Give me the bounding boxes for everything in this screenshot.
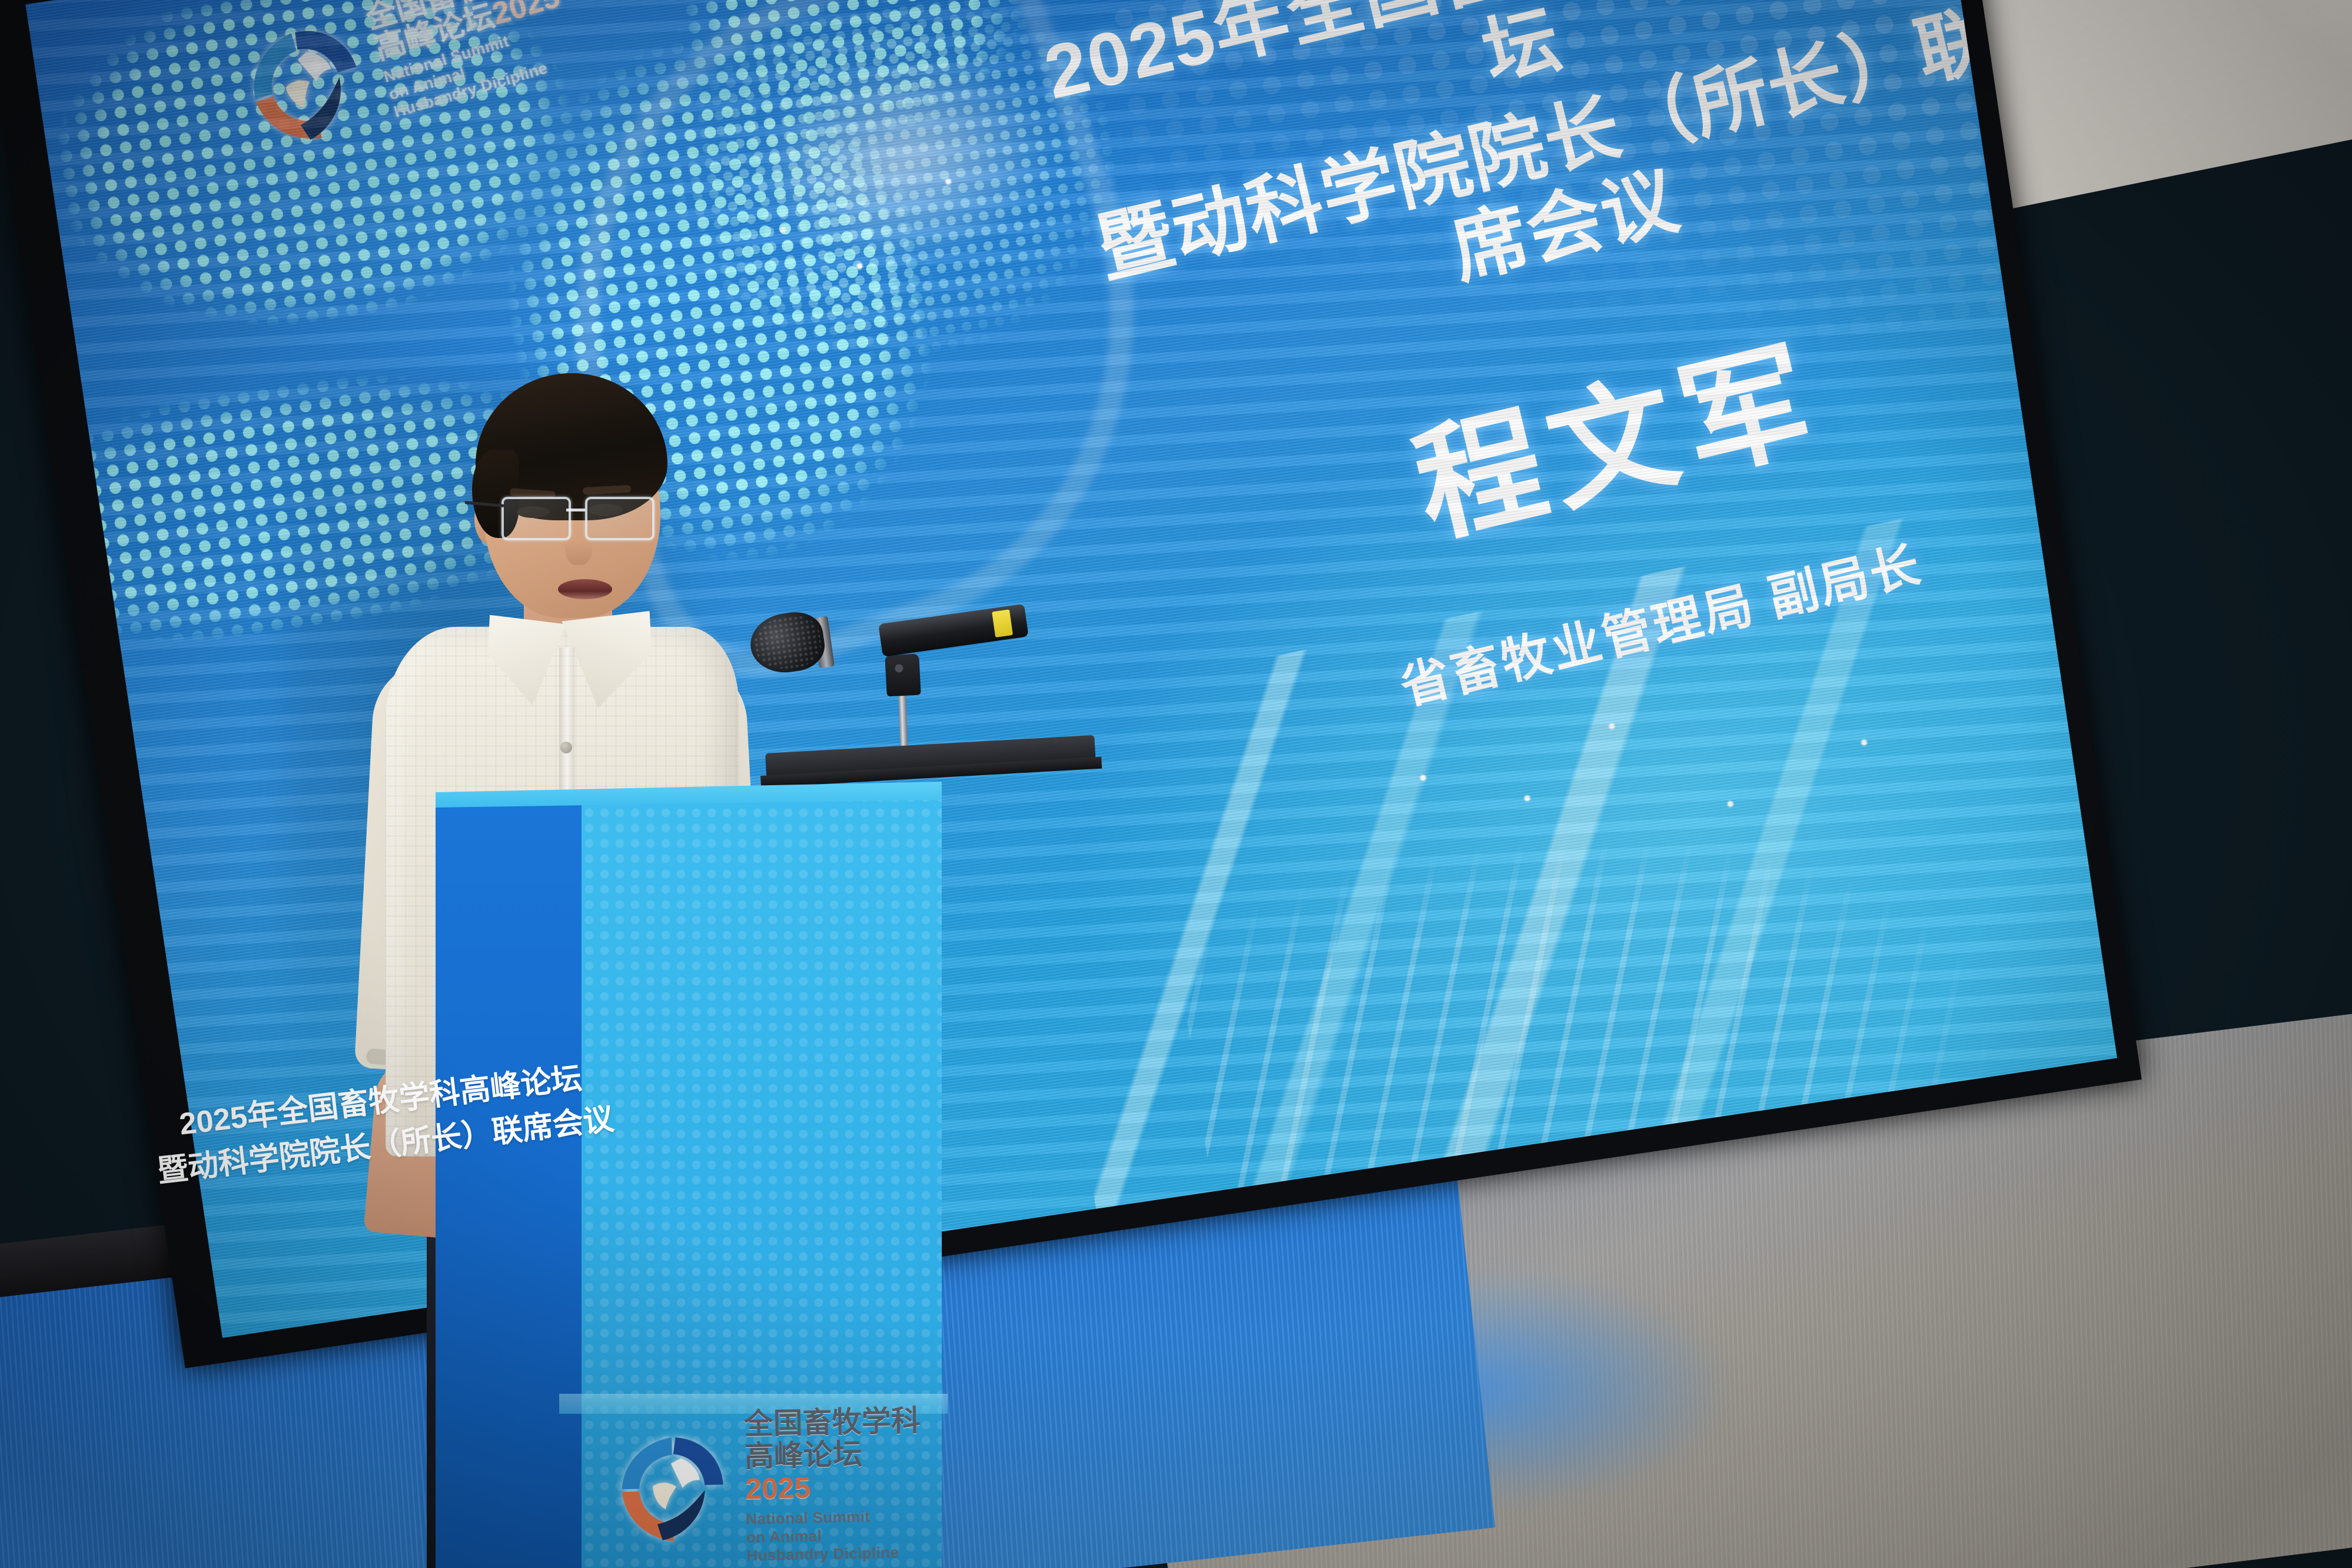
podium-logo-cn-line2: 高峰论坛2025 bbox=[744, 1437, 924, 1505]
summit-logo-icon bbox=[611, 1425, 737, 1551]
podium-left-side bbox=[436, 795, 583, 1568]
podium: 全国畜牧学科 高峰论坛2025 National Summit on Anima… bbox=[436, 790, 942, 1568]
eyeglasses-icon bbox=[501, 497, 650, 539]
podium-event-logo: 全国畜牧学科 高峰论坛2025 National Summit on Anima… bbox=[610, 1404, 925, 1568]
presenter-mouth bbox=[558, 579, 612, 599]
podium-logo-en-block: National Summit on Animal Husbandry Dici… bbox=[746, 1506, 926, 1565]
podium-logo-cn-line1: 全国畜牧学科 bbox=[743, 1404, 923, 1440]
microphone-yellow-band bbox=[992, 609, 1013, 637]
stage-photo: 全国畜牧学科 高峰论坛2025 National Summit on Anima… bbox=[0, 0, 2352, 1568]
microphone-clip bbox=[885, 654, 921, 697]
